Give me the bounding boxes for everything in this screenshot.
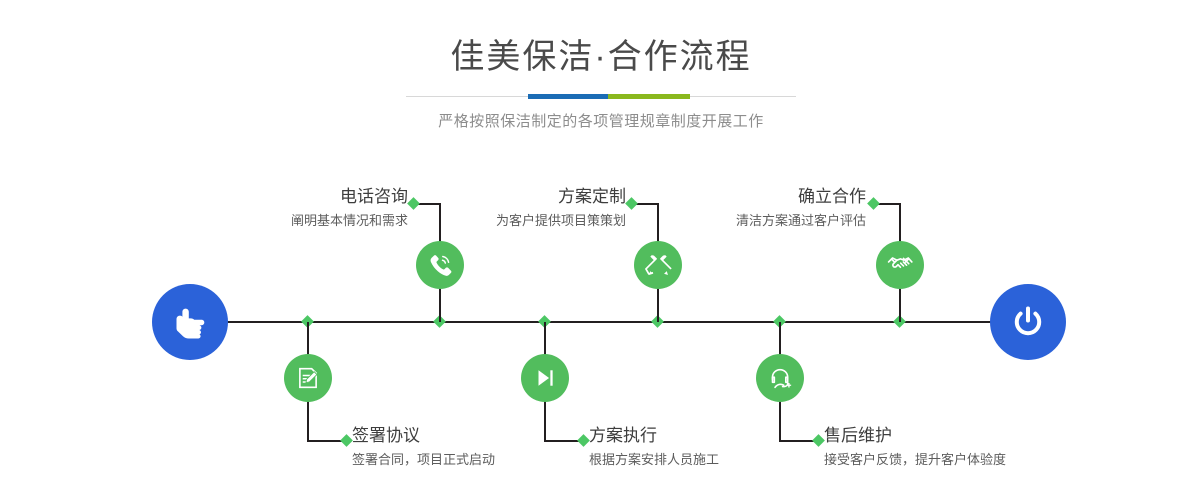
label-desc-step-3: 为客户提供项目策策划 [420, 211, 626, 231]
flow-node-step-1[interactable] [416, 241, 464, 289]
label-step-6: 售后维护 接受客户反馈，提升客户体验度 [824, 425, 1084, 470]
flow-node-step-4[interactable] [521, 354, 569, 402]
flow-node-step-5[interactable] [876, 241, 924, 289]
label-step-2: 签署协议 签署合同，项目正式启动 [352, 425, 592, 470]
pointing-hand-icon [170, 302, 210, 342]
connector-diamond-step-2 [340, 434, 353, 447]
label-desc-step-1: 阐明基本情况和需求 [203, 211, 408, 231]
flow-node-step-3[interactable] [634, 241, 682, 289]
label-title-step-5: 确立合作 [660, 186, 866, 208]
label-desc-step-2: 签署合同，项目正式启动 [352, 450, 592, 470]
label-step-1: 电话咨询 阐明基本情况和需求 [203, 186, 408, 231]
label-step-5: 确立合作 清洁方案通过客户评估 [660, 186, 866, 231]
flow-node-step-6[interactable] [756, 354, 804, 402]
label-step-3: 方案定制 为客户提供项目策策划 [420, 186, 626, 231]
label-desc-step-5: 清洁方案通过客户评估 [660, 211, 866, 231]
play-forward-icon [532, 365, 558, 391]
handshake-icon [886, 251, 914, 279]
flow-node-step-2[interactable] [284, 354, 332, 402]
flow-diagram: 电话咨询 阐明基本情况和需求 签署协议 签署合同，项目正式启动 [0, 0, 1202, 502]
flow-start-endpoint[interactable] [152, 284, 228, 360]
flow-end-endpoint[interactable] [990, 284, 1066, 360]
label-title-step-1: 电话咨询 [203, 186, 408, 208]
connector-diamond-step-3 [625, 197, 638, 210]
power-icon [1008, 302, 1048, 342]
label-title-step-3: 方案定制 [420, 186, 626, 208]
phone-call-icon [426, 251, 454, 279]
connector-diamond-step-6 [812, 434, 825, 447]
label-desc-step-4: 根据方案安排人员施工 [589, 450, 814, 470]
document-pen-icon [295, 365, 321, 391]
connector-diamond-step-5 [867, 197, 880, 210]
connector-diamond-step-1 [407, 197, 420, 210]
label-desc-step-6: 接受客户反馈，提升客户体验度 [824, 450, 1084, 470]
pencil-ruler-icon [645, 252, 672, 279]
process-flow-infographic: 佳美保洁·合作流程 严格按照保洁制定的各项管理规章制度开展工作 [0, 0, 1202, 502]
headset-support-icon [767, 365, 794, 392]
label-title-step-2: 签署协议 [352, 425, 592, 447]
label-title-step-6: 售后维护 [824, 425, 1084, 447]
